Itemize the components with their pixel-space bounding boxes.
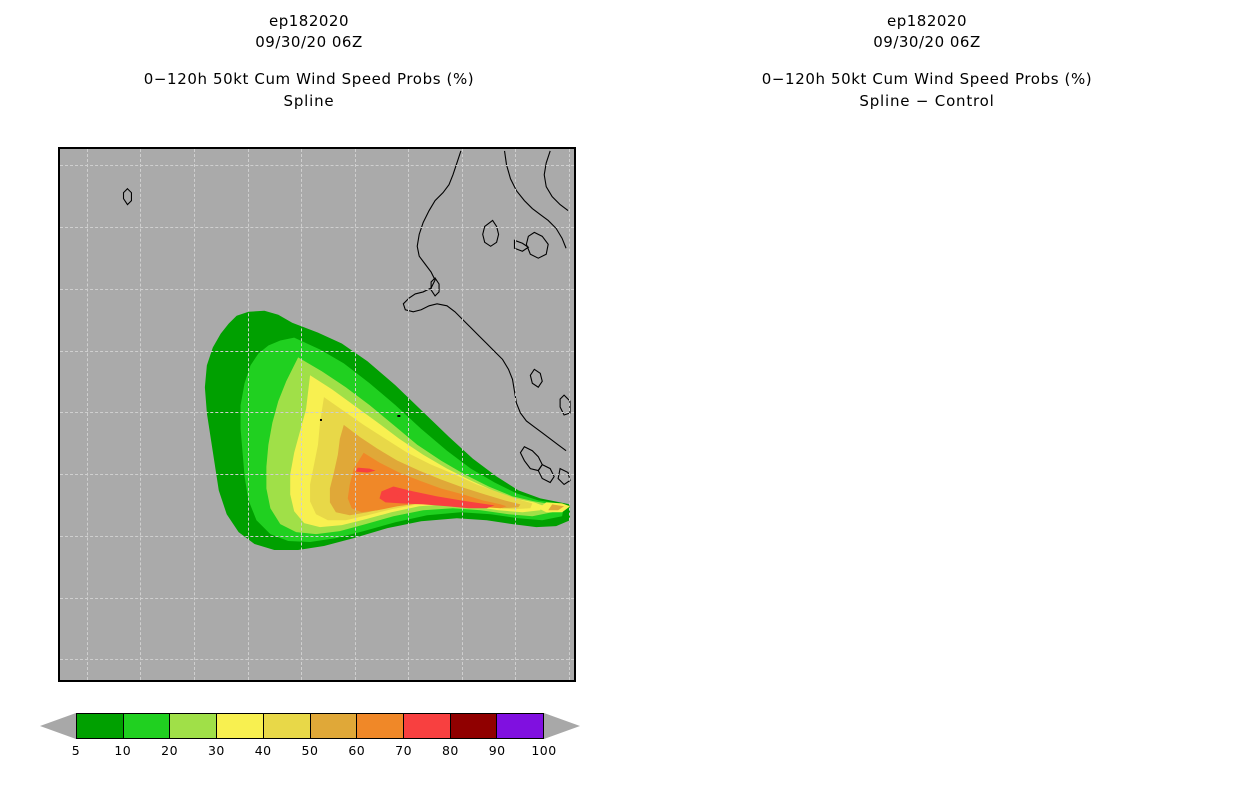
x-axis-tick-mark [461,680,462,682]
colorbar-under-arrow-left [40,713,76,739]
x-axis-tick-mark [193,680,194,682]
storm-id-left: ep182020 [0,12,618,30]
y-axis-tick-label: 6N [58,653,60,666]
colorbar-swatch[interactable] [263,713,310,739]
y-axis-tick-label: 21N [58,344,60,357]
colorbar-tick-label: 80 [442,739,459,758]
subtitle-right: Spline − Control [618,92,1236,110]
colorbar-tick-label: 10 [114,739,131,758]
colorbar-swatch[interactable] [496,713,544,739]
y-axis-tick-label: 18N [58,406,60,419]
colorbar-tick-label: 60 [348,739,365,758]
x-axis-tick-label: 120W [392,680,424,682]
x-axis-tick-label: 135W [124,680,156,682]
subtitle-left: Spline [0,92,618,110]
main-title-left: 0−120h 50kt Cum Wind Speed Probs (%) [0,70,618,88]
colorbar-swatch[interactable] [450,713,497,739]
colorbar-swatch[interactable] [403,713,450,739]
colorbar-swatch[interactable] [216,713,263,739]
y-axis-tick-label: 24N [58,282,60,295]
colorbar-tick-label: 40 [255,739,272,758]
x-axis-tick-label: 129W [232,680,264,682]
datetime-left: 09/30/20 06Z [0,33,618,51]
x-axis-tick-label: 126W [285,680,317,682]
colorbar-ticks-left: 5102030405060708090100 [76,739,544,759]
x-axis-tick-mark [247,680,248,682]
colorbar-swatch[interactable] [123,713,170,739]
colorbar-over-arrow-left [544,713,580,739]
main-title-right: 0−120h 50kt Cum Wind Speed Probs (%) [618,70,1236,88]
x-axis-tick-label: 111W [553,680,576,682]
x-axis-tick-label: 114W [500,680,532,682]
panel-spline-minus-control: ep182020 09/30/20 06Z 0−120h 50kt Cum Wi… [618,0,1236,800]
y-axis-tick-label: 12N [58,529,60,542]
colorbar-swatch[interactable] [356,713,403,739]
datetime-right: 09/30/20 06Z [618,33,1236,51]
y-axis-tick-label: 30N [58,159,60,172]
x-axis-tick-label: 117W [446,680,478,682]
x-axis-tick-mark [86,680,87,682]
colorbar-tick-label: 20 [161,739,178,758]
colorbar-tick-label: 30 [208,739,225,758]
colorbar-swatch[interactable] [169,713,216,739]
x-axis-tick-mark [354,680,355,682]
map-plot-spline[interactable]: 30N27N24N21N18N15N12N9N6N138W135W132W129… [58,147,576,682]
colorbar-tick-label: 90 [489,739,506,758]
x-axis-tick-mark [301,680,302,682]
y-axis-tick-label: 15N [58,468,60,481]
x-axis-tick-mark [569,680,570,682]
colorbar-tick-label: 70 [395,739,412,758]
x-axis-tick-mark [408,680,409,682]
panel-spline: ep182020 09/30/20 06Z 0−120h 50kt Cum Wi… [0,0,618,800]
storm-id-right: ep182020 [618,12,1236,30]
panel-left-titles: ep182020 09/30/20 06Z 0−120h 50kt Cum Wi… [0,0,618,110]
colorbar-swatch[interactable] [310,713,357,739]
x-axis-tick-label: 123W [339,680,371,682]
colorbar-tick-label: 100 [531,739,556,758]
colorbar-tick-label: 50 [302,739,319,758]
colorbar-tick-label: 5 [72,739,80,758]
x-axis-tick-mark [515,680,516,682]
x-axis-tick-mark [140,680,141,682]
y-axis-tick-label: 9N [58,591,60,604]
panel-right-titles: ep182020 09/30/20 06Z 0−120h 50kt Cum Wi… [618,0,1236,110]
x-axis-tick-label: 138W [71,680,103,682]
colorbar-probability[interactable]: 5102030405060708090100 [40,713,580,739]
x-axis-tick-label: 132W [178,680,210,682]
colorbar-swatch[interactable] [76,713,123,739]
coastline-baja-california [60,149,574,680]
colorbar-track-left[interactable] [76,713,544,739]
y-axis-tick-label: 27N [58,221,60,234]
